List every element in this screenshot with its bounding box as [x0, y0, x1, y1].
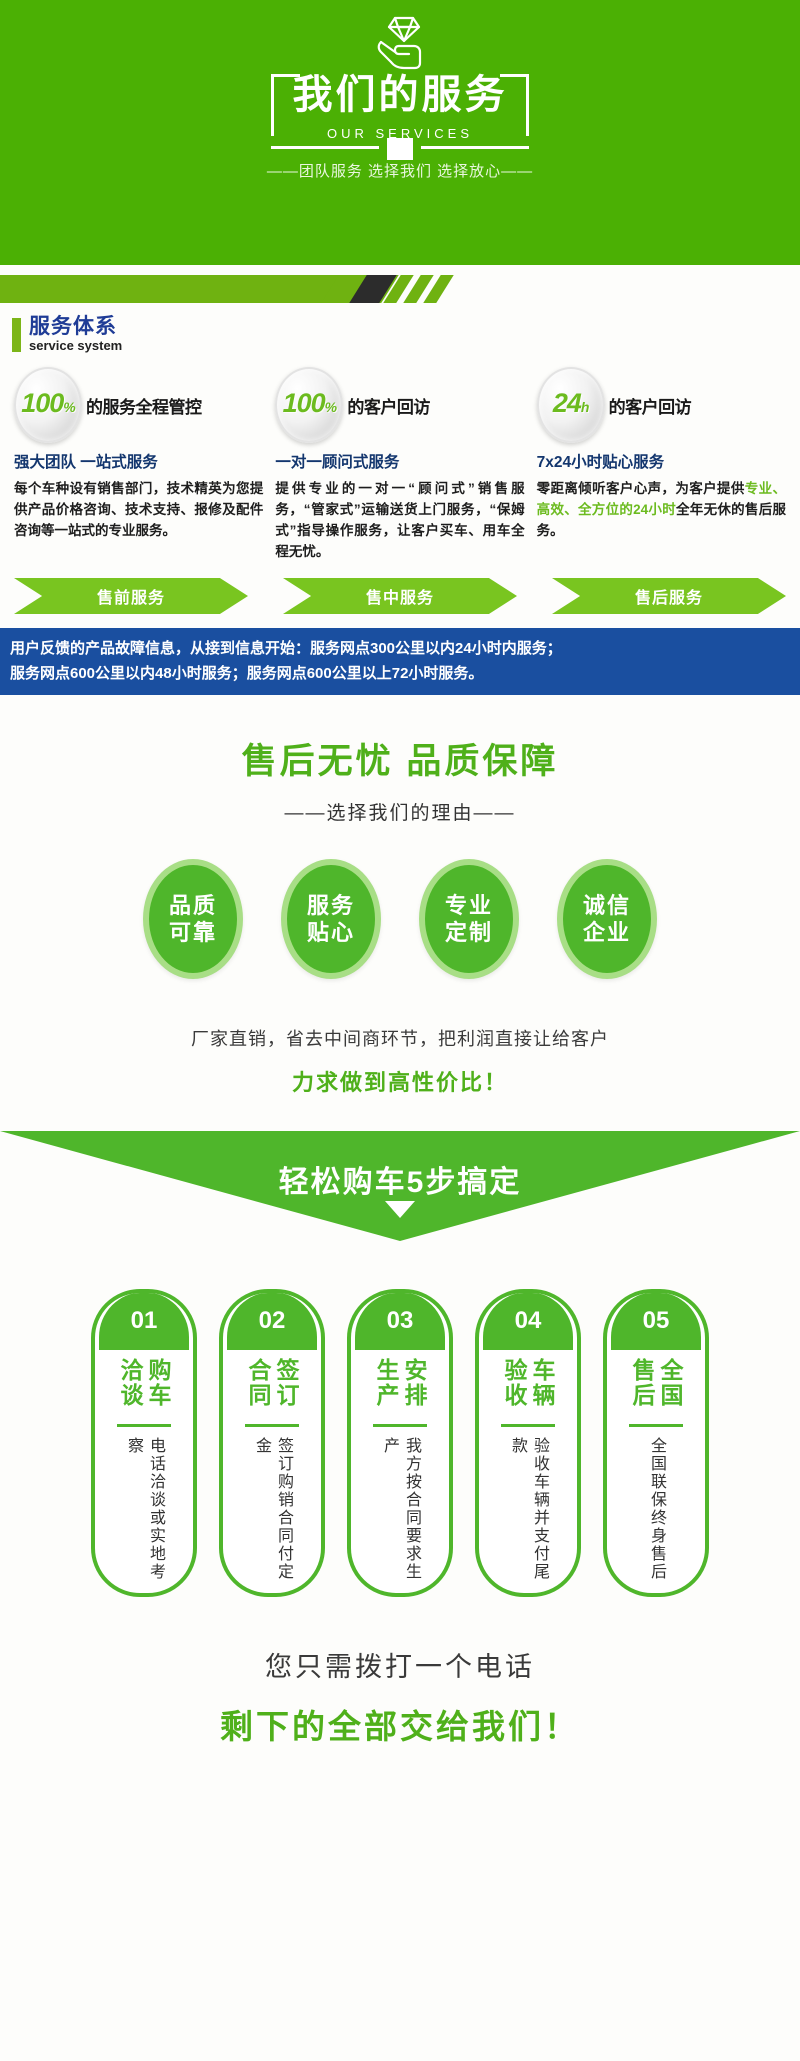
down-arrow-icon [385, 1201, 415, 1218]
step-divider [629, 1424, 683, 1427]
feature-body-3-part1: 零距离倾听客户心声，为客户提供 [537, 481, 745, 496]
badge-number-3: 24 [553, 388, 581, 418]
step-desc-5: 全国联保终身售后 [645, 1437, 667, 1581]
feature-heading-2: 一对一顾问式服务 [275, 450, 524, 472]
hero-frame-notch [387, 138, 413, 160]
percent-circle-icon: 100% [14, 367, 82, 443]
step-card-3[interactable]: 03 安排生产 我方按合同要求生产 [347, 1289, 453, 1597]
reason-oval-3: 专业 定制 [419, 859, 519, 979]
footer-line-2: 剩下的全部交给我们！ [0, 1700, 800, 1748]
ribbon-after-sales[interactable]: 售后服务 [552, 578, 786, 614]
steps-banner: 轻松购车5步搞定 [0, 1131, 800, 1241]
reason-oval-3-line2: 定制 [445, 919, 493, 946]
step-number-1: 01 [99, 1292, 189, 1350]
step-card-5[interactable]: 05 全国售后 全国联保终身售后 [603, 1289, 709, 1597]
badge-number-1: 100 [21, 388, 63, 418]
reasons-oval-row: 品质 可靠 服务 贴心 专业 定制 诚信 企业 [0, 859, 800, 979]
reason-oval-2-line1: 服务 [307, 892, 355, 919]
service-phase-ribbons: 售前服务 售中服务 售后服务 [0, 578, 800, 614]
direct-sales-line2: 力求做到高性价比！ [0, 1065, 800, 1097]
step-title-1: 购车洽谈 [116, 1358, 172, 1416]
step-number-4: 04 [483, 1292, 573, 1350]
step-title-3: 安排生产 [372, 1358, 428, 1416]
warranty-line-2: 服务网点600公里以内48小时服务；服务网点600公里以上72小时服务。 [10, 661, 790, 686]
feature-card-3: 24h 的客户回访 7x24小时贴心服务 零距离倾听客户心声，为客户提供专业、高… [531, 368, 792, 562]
step-number-5: 05 [611, 1292, 701, 1350]
service-system-title-cn: 服务体系 [29, 315, 122, 338]
step-number-3: 03 [355, 1292, 445, 1350]
step-card-1[interactable]: 01 购车洽谈 电话洽谈或实地考察 [91, 1289, 197, 1597]
step-desc-4: 验收车辆并支付尾款 [506, 1437, 550, 1587]
step-title-4: 车辆验收 [500, 1358, 556, 1416]
step-title-2: 签订合同 [244, 1358, 300, 1416]
service-system-title-en: service system [29, 338, 122, 354]
reason-oval-4-line1: 诚信 [583, 892, 631, 919]
percent-circle-icon: 100% [275, 367, 343, 443]
page-subtitle: OUR SERVICES [327, 126, 473, 141]
reason-oval-2-line2: 贴心 [307, 919, 355, 946]
step-number-2: 02 [227, 1292, 317, 1350]
step-desc-1: 电话洽谈或实地考察 [122, 1437, 166, 1587]
reason-oval-1-line1: 品质 [169, 892, 217, 919]
step-desc-2: 签订购销合同付定金 [250, 1437, 294, 1587]
reasons-subtitle: ——选择我们的理由—— [0, 798, 800, 825]
service-system-decor-bar [0, 275, 800, 309]
step-card-2[interactable]: 02 签订合同 签订购销合同付定金 [219, 1289, 325, 1597]
feature-heading-1: 强大团队 一站式服务 [14, 450, 263, 472]
hours-circle-icon: 24h [537, 367, 605, 443]
footer-cta: 您只需拨打一个电话 剩下的全部交给我们！ [0, 1645, 800, 1748]
purchase-steps-row: 01 购车洽谈 电话洽谈或实地考察 02 签订合同 签订购销合同付定金 03 安… [0, 1289, 800, 1597]
badge-label-1: 的服务全程管控 [86, 393, 202, 418]
reasons-title: 售后无忧 品质保障 [0, 733, 800, 784]
step-divider [117, 1424, 171, 1427]
feature-heading-3: 7x24小时贴心服务 [537, 450, 786, 472]
heading-accent-bar [12, 318, 21, 352]
reason-oval-3-line1: 专业 [445, 892, 493, 919]
hero-banner: 我们的服务 OUR SERVICES ——团队服务 选择我们 选择放心—— [0, 0, 800, 265]
step-card-4[interactable]: 04 车辆验收 验收车辆并支付尾款 [475, 1289, 581, 1597]
step-divider [245, 1424, 299, 1427]
reason-oval-4: 诚信 企业 [557, 859, 657, 979]
ribbon-pre-sales[interactable]: 售前服务 [14, 578, 248, 614]
reason-oval-2: 服务 贴心 [281, 859, 381, 979]
badge-unit-3: h [581, 399, 589, 415]
feature-body-1: 每个车种设有销售部门，技术精英为您提供产品价格咨询、技术支持、报修及配件咨询等一… [14, 478, 263, 541]
warranty-line-1: 用户反馈的产品故障信息，从接到信息开始：服务网点300公里以内24小时内服务； [10, 636, 790, 661]
direct-sales-line1: 厂家直销，省去中间商环节，把利润直接让给客户 [0, 1025, 800, 1051]
badge-label-2: 的客户回访 [347, 393, 430, 418]
reason-oval-1: 品质 可靠 [143, 859, 243, 979]
step-divider [501, 1424, 555, 1427]
feature-badge-3: 24h 的客户回访 [537, 368, 786, 442]
step-desc-3: 我方按合同要求生产 [378, 1437, 422, 1587]
feature-badge-2: 100% 的客户回访 [275, 368, 524, 442]
ribbon-in-sales[interactable]: 售中服务 [283, 578, 517, 614]
badge-number-2: 100 [283, 388, 325, 418]
hero-tagline: ——团队服务 选择我们 选择放心—— [267, 160, 533, 181]
features-row: 100% 的服务全程管控 强大团队 一站式服务 每个车种设有销售部门，技术精英为… [0, 368, 800, 562]
feature-badge-1: 100% 的服务全程管控 [14, 368, 263, 442]
reason-oval-4-line2: 企业 [583, 919, 631, 946]
step-title-5: 全国售后 [628, 1358, 684, 1416]
feature-body-3: 零距离倾听客户心声，为客户提供专业、高效、全方位的24小时全年无休的售后服务。 [537, 478, 786, 541]
badge-unit-2: % [325, 399, 336, 415]
footer-line-1: 您只需拨打一个电话 [0, 1645, 800, 1684]
step-divider [373, 1424, 427, 1427]
feature-card-2: 100% 的客户回访 一对一顾问式服务 提供专业的一对一“顾问式”销售服务，“管… [269, 368, 530, 562]
reason-oval-1-line2: 可靠 [169, 919, 217, 946]
steps-banner-title: 轻松购车5步搞定 [0, 1157, 800, 1201]
feature-card-1: 100% 的服务全程管控 强大团队 一站式服务 每个车种设有销售部门，技术精英为… [8, 368, 269, 562]
service-system-heading: 服务体系 service system [12, 315, 800, 354]
warranty-banner: 用户反馈的产品故障信息，从接到信息开始：服务网点300公里以内24小时内服务； … [0, 628, 800, 695]
page-title: 我们的服务 [293, 66, 508, 124]
badge-unit-1: % [63, 399, 74, 415]
feature-body-2: 提供专业的一对一“顾问式”销售服务，“管家式”运输送货上门服务，“保姆式”指导操… [275, 478, 524, 562]
badge-label-3: 的客户回访 [609, 393, 692, 418]
